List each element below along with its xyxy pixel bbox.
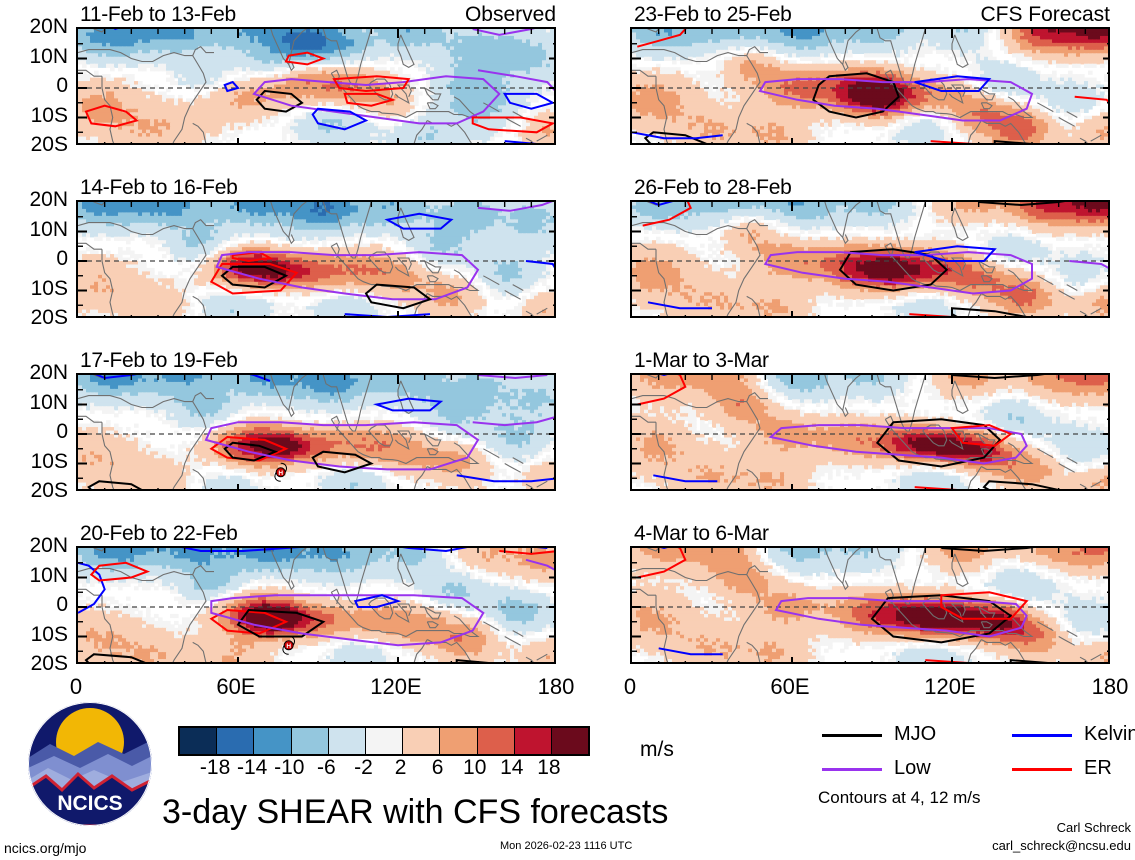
column-header-2: CFS Forecast [960, 3, 1110, 27]
timestamp: Mon 2026-02-23 1116 UTC [500, 840, 632, 852]
y-tick-label: 20N [0, 535, 68, 556]
x-tick-label: 120E [366, 674, 426, 700]
y-tick-label: 10S [0, 278, 68, 299]
panel-title-5: 23-Feb to 25-Feb [634, 3, 791, 27]
panel-title-3: 17-Feb to 19-Feb [80, 349, 237, 373]
colorbar-swatch-2 [254, 728, 291, 754]
colorbar-swatch-3 [292, 728, 329, 754]
map-panel-5 [630, 27, 1110, 145]
y-tick-label: 20S [0, 480, 68, 501]
x-tick-label: 180 [526, 674, 586, 700]
panel-title-8: 4-Mar to 6-Mar [634, 522, 769, 546]
y-tick-label: 10N [0, 392, 68, 413]
colorbar-tick-label: 18 [524, 756, 574, 780]
legend-label-er: ER [1084, 757, 1112, 780]
y-tick-label: 20N [0, 362, 68, 383]
legend-label-kelvin-x2: Kelvin x2 [1084, 723, 1135, 746]
ncics-logo[interactable]: NCICS [28, 702, 152, 826]
colorbar-swatch-0 [180, 728, 217, 754]
y-tick-label: 0 [0, 248, 68, 269]
y-tick-label: 10N [0, 565, 68, 586]
contour-levels-note: Contours at 4, 12 m/s [818, 788, 981, 808]
panel-title-6: 26-Feb to 28-Feb [634, 176, 791, 200]
y-tick-label: 0 [0, 75, 68, 96]
panel-title-4: 20-Feb to 22-Feb [80, 522, 237, 546]
map-panel-2 [76, 200, 556, 318]
legend-line-er [1012, 768, 1072, 771]
y-tick-label: 10S [0, 624, 68, 645]
colorbar-swatch-7 [440, 728, 477, 754]
colorbar-unit-label: m/s [640, 738, 674, 762]
x-tick-label: 120E [920, 674, 980, 700]
legend-label-mjo: MJO [894, 723, 936, 746]
legend-line-kelvin-x2 [1012, 734, 1072, 737]
colorbar-swatch-1 [217, 728, 254, 754]
legend-line-mjo [822, 734, 882, 737]
column-header-1: Observed [406, 3, 556, 27]
map-panel-1 [76, 27, 556, 145]
y-tick-label: 10S [0, 451, 68, 472]
x-tick-label: 180 [1080, 674, 1135, 700]
y-tick-label: 10N [0, 219, 68, 240]
y-tick-label: 10S [0, 105, 68, 126]
y-tick-label: 20S [0, 307, 68, 328]
map-panel-7 [630, 373, 1110, 491]
ncics-logo-svg: NCICS [28, 702, 152, 826]
map-panel-8 [630, 546, 1110, 664]
author-name: Carl Schreck [935, 820, 1131, 835]
map-panel-4: H [76, 546, 556, 664]
panel-title-1: 11-Feb to 13-Feb [80, 3, 236, 27]
panel-title-2: 14-Feb to 16-Feb [80, 176, 237, 200]
colorbar-swatch-9 [515, 728, 552, 754]
figure-title: 3-day SHEAR with CFS forecasts [162, 793, 668, 832]
y-tick-label: 20N [0, 189, 68, 210]
colorbar-swatch-8 [478, 728, 515, 754]
author-email[interactable]: carl_schreck@ncsu.edu [935, 838, 1131, 853]
y-tick-label: 20S [0, 653, 68, 674]
x-tick-label: 60E [760, 674, 820, 700]
site-link[interactable]: ncics.org/mjo [4, 840, 86, 856]
x-tick-label: 0 [600, 674, 660, 700]
colorbar-swatch-6 [403, 728, 440, 754]
legend-line-low [822, 768, 882, 771]
x-tick-label: 0 [46, 674, 106, 700]
colorbar [178, 726, 590, 756]
map-panel-6 [630, 200, 1110, 318]
legend-label-low: Low [894, 757, 931, 780]
y-tick-label: 10N [0, 46, 68, 67]
y-tick-label: 0 [0, 594, 68, 615]
y-tick-label: 0 [0, 421, 68, 442]
x-tick-label: 60E [206, 674, 266, 700]
colorbar-swatch-5 [366, 728, 403, 754]
y-tick-label: 20N [0, 16, 68, 37]
ncics-logo-label: NCICS [57, 792, 122, 815]
map-panel-3: H [76, 373, 556, 491]
colorbar-swatch-4 [329, 728, 366, 754]
panel-title-7: 1-Mar to 3-Mar [634, 349, 769, 373]
y-tick-label: 20S [0, 134, 68, 155]
colorbar-swatch-10 [552, 728, 588, 754]
